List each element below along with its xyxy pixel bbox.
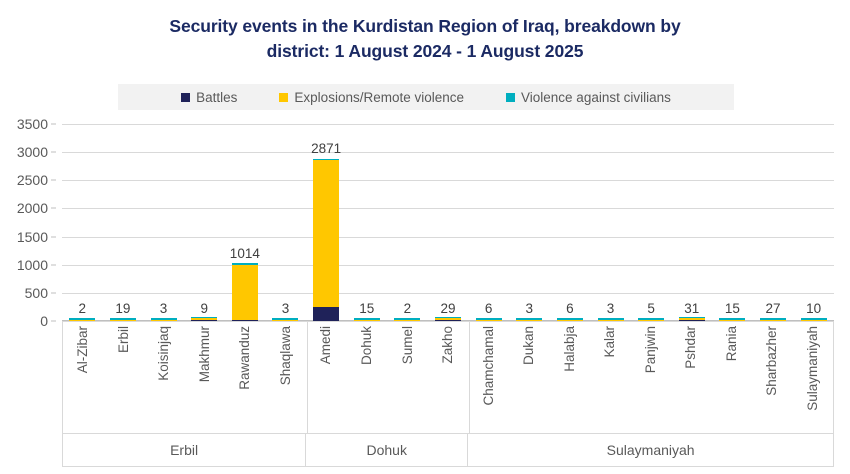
category-tick-dohuk[interactable]: Dohuk [347, 322, 388, 433]
governorate-group-erbil[interactable]: Erbil [63, 434, 306, 466]
chart-container: Security events in the Kurdistan Region … [0, 0, 850, 474]
bar-value-label: 3 [160, 301, 168, 316]
category-tick-zakho[interactable]: Zakho [428, 322, 469, 433]
bar-group[interactable]: 2 [62, 124, 103, 321]
title-line-1: Security events in the Kurdistan Region … [90, 14, 760, 39]
bar-group[interactable]: 6 [468, 124, 509, 321]
bar-group[interactable]: 15 [712, 124, 753, 321]
group-label-band: ErbilDohukSulaymaniyah [62, 433, 834, 467]
category-tick-erbil[interactable]: Erbil [104, 322, 145, 433]
y-axis-tick-mark [51, 152, 56, 153]
title-line-2: district: 1 August 2024 - 1 August 2025 [90, 39, 760, 64]
bar-value-label: 9 [200, 301, 208, 316]
bar-value-label: 15 [725, 301, 740, 316]
y-axis-tick-mark [51, 236, 56, 237]
category-tick-sumel[interactable]: Sumel [387, 322, 428, 433]
bar-group[interactable]: 3 [143, 124, 184, 321]
y-axis-tick-label: 1000 [17, 257, 48, 273]
category-tick-label: Al-Zibar [75, 326, 90, 373]
y-axis-tick-mark [51, 321, 56, 322]
category-tick-label: Rawanduz [237, 326, 252, 390]
chart-legend: BattlesExplosions/Remote violenceViolenc… [118, 84, 734, 110]
category-tick-label: Amedi [318, 326, 333, 364]
category-tick-label: Pshdar [683, 326, 698, 369]
bars-layer: 21939101432871152296363531152710 [62, 124, 834, 321]
bar-group[interactable]: 3 [509, 124, 550, 321]
bar-value-label: 3 [607, 301, 615, 316]
y-axis-tick-label: 0 [40, 313, 48, 329]
governorate-group-sulaymaniyah[interactable]: Sulaymaniyah [468, 434, 833, 466]
bar-group[interactable]: 29 [428, 124, 469, 321]
bar-value-label: 2871 [311, 141, 341, 156]
bar-value-label: 6 [566, 301, 574, 316]
category-tick-label: Kalar [602, 326, 617, 358]
bar-value-label: 2 [404, 301, 412, 316]
category-tick-panjwin[interactable]: Panjwin [630, 322, 671, 433]
category-tick-label: Makhmur [197, 326, 212, 382]
category-tick-label: Rania [724, 326, 739, 361]
legend-item-violence-against-civilians[interactable]: Violence against civilians [506, 90, 671, 105]
bar-group[interactable]: 6 [550, 124, 591, 321]
category-tick-label: Zakho [440, 326, 455, 364]
legend-item-label: Violence against civilians [521, 90, 671, 105]
category-tick-pshdar[interactable]: Pshdar [671, 322, 712, 433]
bar-value-label: 15 [359, 301, 374, 316]
category-tick-label: Dukan [521, 326, 536, 365]
category-tick-chamchamal[interactable]: Chamchamal [468, 322, 509, 433]
category-tick-sharbazher[interactable]: Sharbazher [752, 322, 793, 433]
bar-group[interactable]: 9 [184, 124, 225, 321]
bar-value-label: 31 [684, 301, 699, 316]
legend-item-label: Explosions/Remote violence [294, 90, 464, 105]
y-axis-tick-label: 500 [25, 285, 48, 301]
category-tick-dukan[interactable]: Dukan [509, 322, 550, 433]
category-label-band: Al-ZibarErbilKoisinjaqMakhmurRawanduzSha… [62, 321, 834, 433]
y-axis-tick-label: 2500 [17, 172, 48, 188]
category-tick-sulaymaniyah[interactable]: Sulaymaniyah [793, 322, 834, 433]
category-tick-halabja[interactable]: Halabja [549, 322, 590, 433]
category-tick-koisinjaq[interactable]: Koisinjaq [144, 322, 185, 433]
legend-swatch-icon [279, 93, 288, 102]
bar-segment [313, 160, 339, 307]
bar-value-label: 3 [282, 301, 290, 316]
y-axis: 0500100015002000250030003500 [0, 124, 56, 321]
stacked-bar[interactable] [232, 263, 258, 321]
bar-group[interactable]: 31 [671, 124, 712, 321]
category-tick-amedi[interactable]: Amedi [306, 322, 347, 433]
bar-group[interactable]: 3 [590, 124, 631, 321]
y-axis-tick-label: 1500 [17, 229, 48, 245]
bar-value-label: 1014 [230, 246, 260, 261]
category-tick-label: Koisinjaq [156, 326, 171, 381]
bar-value-label: 6 [485, 301, 493, 316]
legend-swatch-icon [181, 93, 190, 102]
category-tick-label: Halabja [562, 326, 577, 372]
y-axis-tick-mark [51, 208, 56, 209]
category-tick-rawanduz[interactable]: Rawanduz [225, 322, 266, 433]
bar-group[interactable]: 3 [265, 124, 306, 321]
bar-value-label: 19 [115, 301, 130, 316]
bar-group[interactable]: 2871 [306, 124, 347, 321]
bar-segment [313, 307, 339, 321]
y-axis-tick-label: 3500 [17, 116, 48, 132]
category-tick-kalar[interactable]: Kalar [590, 322, 631, 433]
category-tick-al-zibar[interactable]: Al-Zibar [63, 322, 104, 433]
category-tick-label: Sharbazher [764, 326, 779, 396]
legend-item-explosions-remote-violence[interactable]: Explosions/Remote violence [279, 90, 464, 105]
bar-group[interactable]: 5 [631, 124, 672, 321]
bar-value-label: 27 [766, 301, 781, 316]
page-title: Security events in the Kurdistan Region … [90, 14, 760, 64]
bar-value-label: 2 [79, 301, 87, 316]
y-axis-tick-label: 2000 [17, 200, 48, 216]
bar-group[interactable]: 15 [346, 124, 387, 321]
bar-value-label: 29 [440, 301, 455, 316]
category-tick-label: Sulaymaniyah [805, 326, 820, 411]
bar-value-label: 5 [647, 301, 655, 316]
category-tick-label: Chamchamal [481, 326, 496, 406]
governorate-group-label: Dohuk [366, 442, 406, 458]
bar-segment [232, 265, 258, 320]
category-tick-label: Dohuk [359, 326, 374, 365]
category-tick-shaqlawa[interactable]: Shaqlawa [266, 322, 307, 433]
category-tick-makhmur[interactable]: Makhmur [185, 322, 226, 433]
bar-value-label: 3 [525, 301, 533, 316]
y-axis-tick-mark [51, 124, 56, 125]
category-tick-label: Sumel [400, 326, 415, 364]
bar-group[interactable]: 10 [793, 124, 834, 321]
bar-group[interactable]: 27 [753, 124, 794, 321]
category-tick-label: Erbil [116, 326, 131, 353]
category-tick-label: Shaqlawa [278, 326, 293, 385]
bar-group[interactable]: 1014 [225, 124, 266, 321]
category-tick-rania[interactable]: Rania [712, 322, 753, 433]
group-divider [469, 322, 470, 433]
bar-value-label: 10 [806, 301, 821, 316]
group-divider [307, 322, 308, 433]
y-axis-tick-label: 3000 [17, 144, 48, 160]
governorate-group-label: Sulaymaniyah [607, 442, 695, 458]
y-axis-tick-mark [51, 264, 56, 265]
legend-item-label: Battles [196, 90, 237, 105]
governorate-group-label: Erbil [170, 442, 198, 458]
y-axis-tick-mark [51, 292, 56, 293]
bar-group[interactable]: 19 [103, 124, 144, 321]
legend-swatch-icon [506, 93, 515, 102]
stacked-bar[interactable] [313, 159, 339, 321]
legend-item-battles[interactable]: Battles [181, 90, 237, 105]
bar-group[interactable]: 2 [387, 124, 428, 321]
y-axis-tick-mark [51, 180, 56, 181]
governorate-group-dohuk[interactable]: Dohuk [306, 434, 468, 466]
category-tick-label: Panjwin [643, 326, 658, 373]
